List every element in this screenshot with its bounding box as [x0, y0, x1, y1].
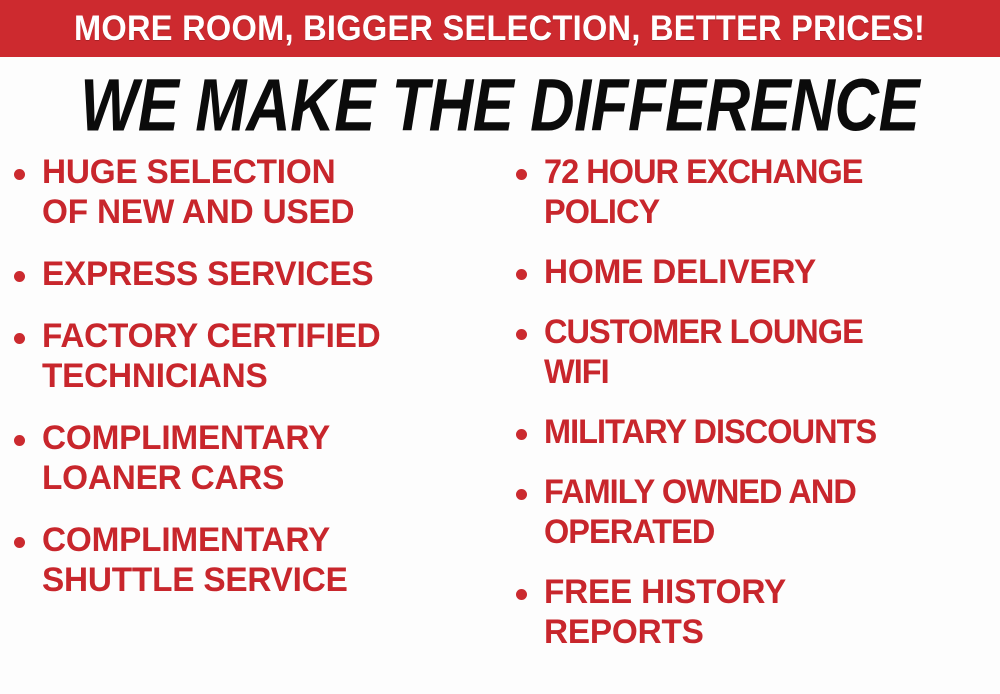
benefits-column-left: HUGE SELECTION OF NEW AND USED EXPRESS S… — [14, 152, 506, 622]
headline-container: WE MAKE THE DIFFERENCE — [0, 66, 1000, 144]
bullet-dot-icon — [516, 269, 527, 280]
list-item: FAMILY OWNED AND OPERATED — [516, 472, 1000, 552]
bullet-dot-icon — [14, 537, 25, 548]
banner-headline: MORE ROOM, BIGGER SELECTION, BETTER PRIC… — [74, 11, 925, 46]
list-item: EXPRESS SERVICES — [14, 254, 506, 294]
list-item-label: COMPLIMENTARY SHUTTLE SERVICE — [42, 520, 348, 600]
list-item: MILITARY DISCOUNTS — [516, 412, 1000, 452]
list-item-label: EXPRESS SERVICES — [42, 254, 373, 294]
list-item-label: FACTORY CERTIFIED TECHNICIANS — [42, 316, 381, 396]
list-item-label: CUSTOMER LOUNGE WIFI — [544, 312, 863, 392]
list-item-label: COMPLIMENTARY LOANER CARS — [42, 418, 330, 498]
bullet-dot-icon — [516, 589, 527, 600]
bullet-dot-icon — [516, 329, 527, 340]
list-item-label: HOME DELIVERY — [544, 252, 816, 292]
top-banner: MORE ROOM, BIGGER SELECTION, BETTER PRIC… — [0, 0, 1000, 57]
list-item: COMPLIMENTARY LOANER CARS — [14, 418, 506, 498]
list-item: HOME DELIVERY — [516, 252, 1000, 292]
bullet-dot-icon — [14, 435, 25, 446]
bullet-dot-icon — [14, 169, 25, 180]
list-item-label: MILITARY DISCOUNTS — [544, 412, 876, 452]
bullet-dot-icon — [14, 271, 25, 282]
bullet-dot-icon — [516, 429, 527, 440]
benefits-column-right: 72 HOUR EXCHANGE POLICY HOME DELIVERY CU… — [516, 152, 1000, 672]
bullet-dot-icon — [516, 169, 527, 180]
list-item: 72 HOUR EXCHANGE POLICY — [516, 152, 1000, 232]
list-item-label: HUGE SELECTION OF NEW AND USED — [42, 152, 354, 232]
list-item: COMPLIMENTARY SHUTTLE SERVICE — [14, 520, 506, 600]
list-item: FREE HISTORY REPORTS — [516, 572, 1000, 652]
list-item: HUGE SELECTION OF NEW AND USED — [14, 152, 506, 232]
list-item: CUSTOMER LOUNGE WIFI — [516, 312, 1000, 392]
list-item-label: FREE HISTORY REPORTS — [544, 572, 786, 652]
bullet-dot-icon — [516, 489, 527, 500]
list-item-label: FAMILY OWNED AND OPERATED — [544, 472, 856, 552]
list-item: FACTORY CERTIFIED TECHNICIANS — [14, 316, 506, 396]
list-item-label: 72 HOUR EXCHANGE POLICY — [544, 152, 863, 232]
bullet-dot-icon — [14, 333, 25, 344]
page-title: WE MAKE THE DIFFERENCE — [80, 68, 919, 142]
promotional-poster: MORE ROOM, BIGGER SELECTION, BETTER PRIC… — [0, 0, 1000, 694]
benefits-columns: HUGE SELECTION OF NEW AND USED EXPRESS S… — [0, 152, 1000, 694]
